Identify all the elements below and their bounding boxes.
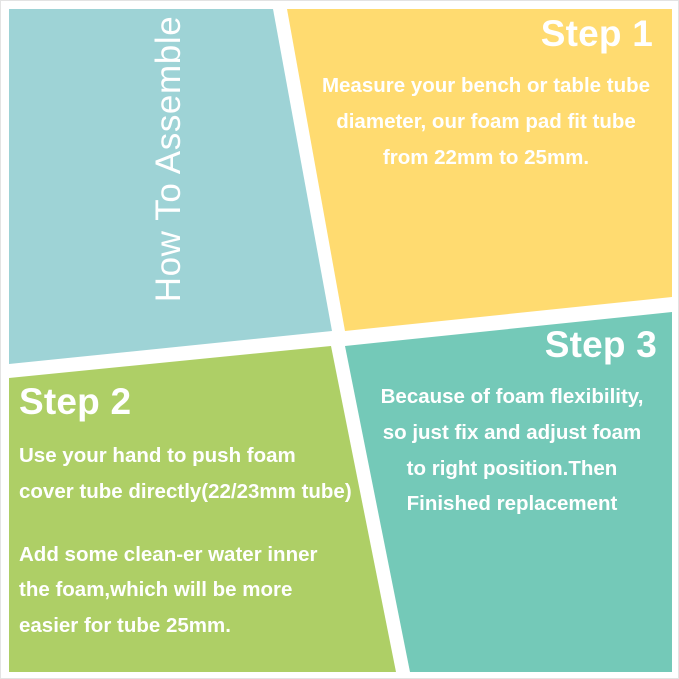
step-2-body-line: easier for tube 25mm.	[19, 614, 231, 637]
step-2-body-line: Add some clean-er water inner	[19, 543, 317, 566]
step-3-body-line: Finished replacement	[357, 486, 667, 522]
step-1-body-line: from 22mm to 25mm.	[311, 140, 661, 176]
step-1-body-line: Measure your bench or table tube	[311, 68, 661, 104]
step-3-body: Because of foam flexibility, so just fix…	[353, 379, 669, 523]
step-3-panel: Step 3 Because of foam flexibility, so j…	[353, 326, 669, 606]
step-1-body: Measure your bench or table tube diamete…	[297, 68, 667, 176]
step-2-body-line: Use your hand to push foam	[19, 444, 296, 467]
step-1-body-line: diameter, our foam pad fit tube	[311, 104, 661, 140]
step-2-body-line: cover tube directly(22/23mm tube)	[19, 480, 352, 503]
step-3-heading: Step 3	[353, 326, 669, 365]
step-3-body-line: to right position.Then	[357, 451, 667, 487]
step-3-body-line: so just fix and adjust foam	[357, 415, 667, 451]
page-title: How To Assemble	[149, 9, 189, 309]
step-1-heading: Step 1	[297, 15, 667, 54]
step-3-body-line: Because of foam flexibility,	[357, 379, 667, 415]
step-1-panel: Step 1 Measure your bench or table tube …	[297, 15, 667, 305]
how-to-assemble-infographic: How To Assemble Step 1 Measure your benc…	[0, 0, 679, 679]
step-2-body-line: the foam,which will be more	[19, 578, 292, 601]
